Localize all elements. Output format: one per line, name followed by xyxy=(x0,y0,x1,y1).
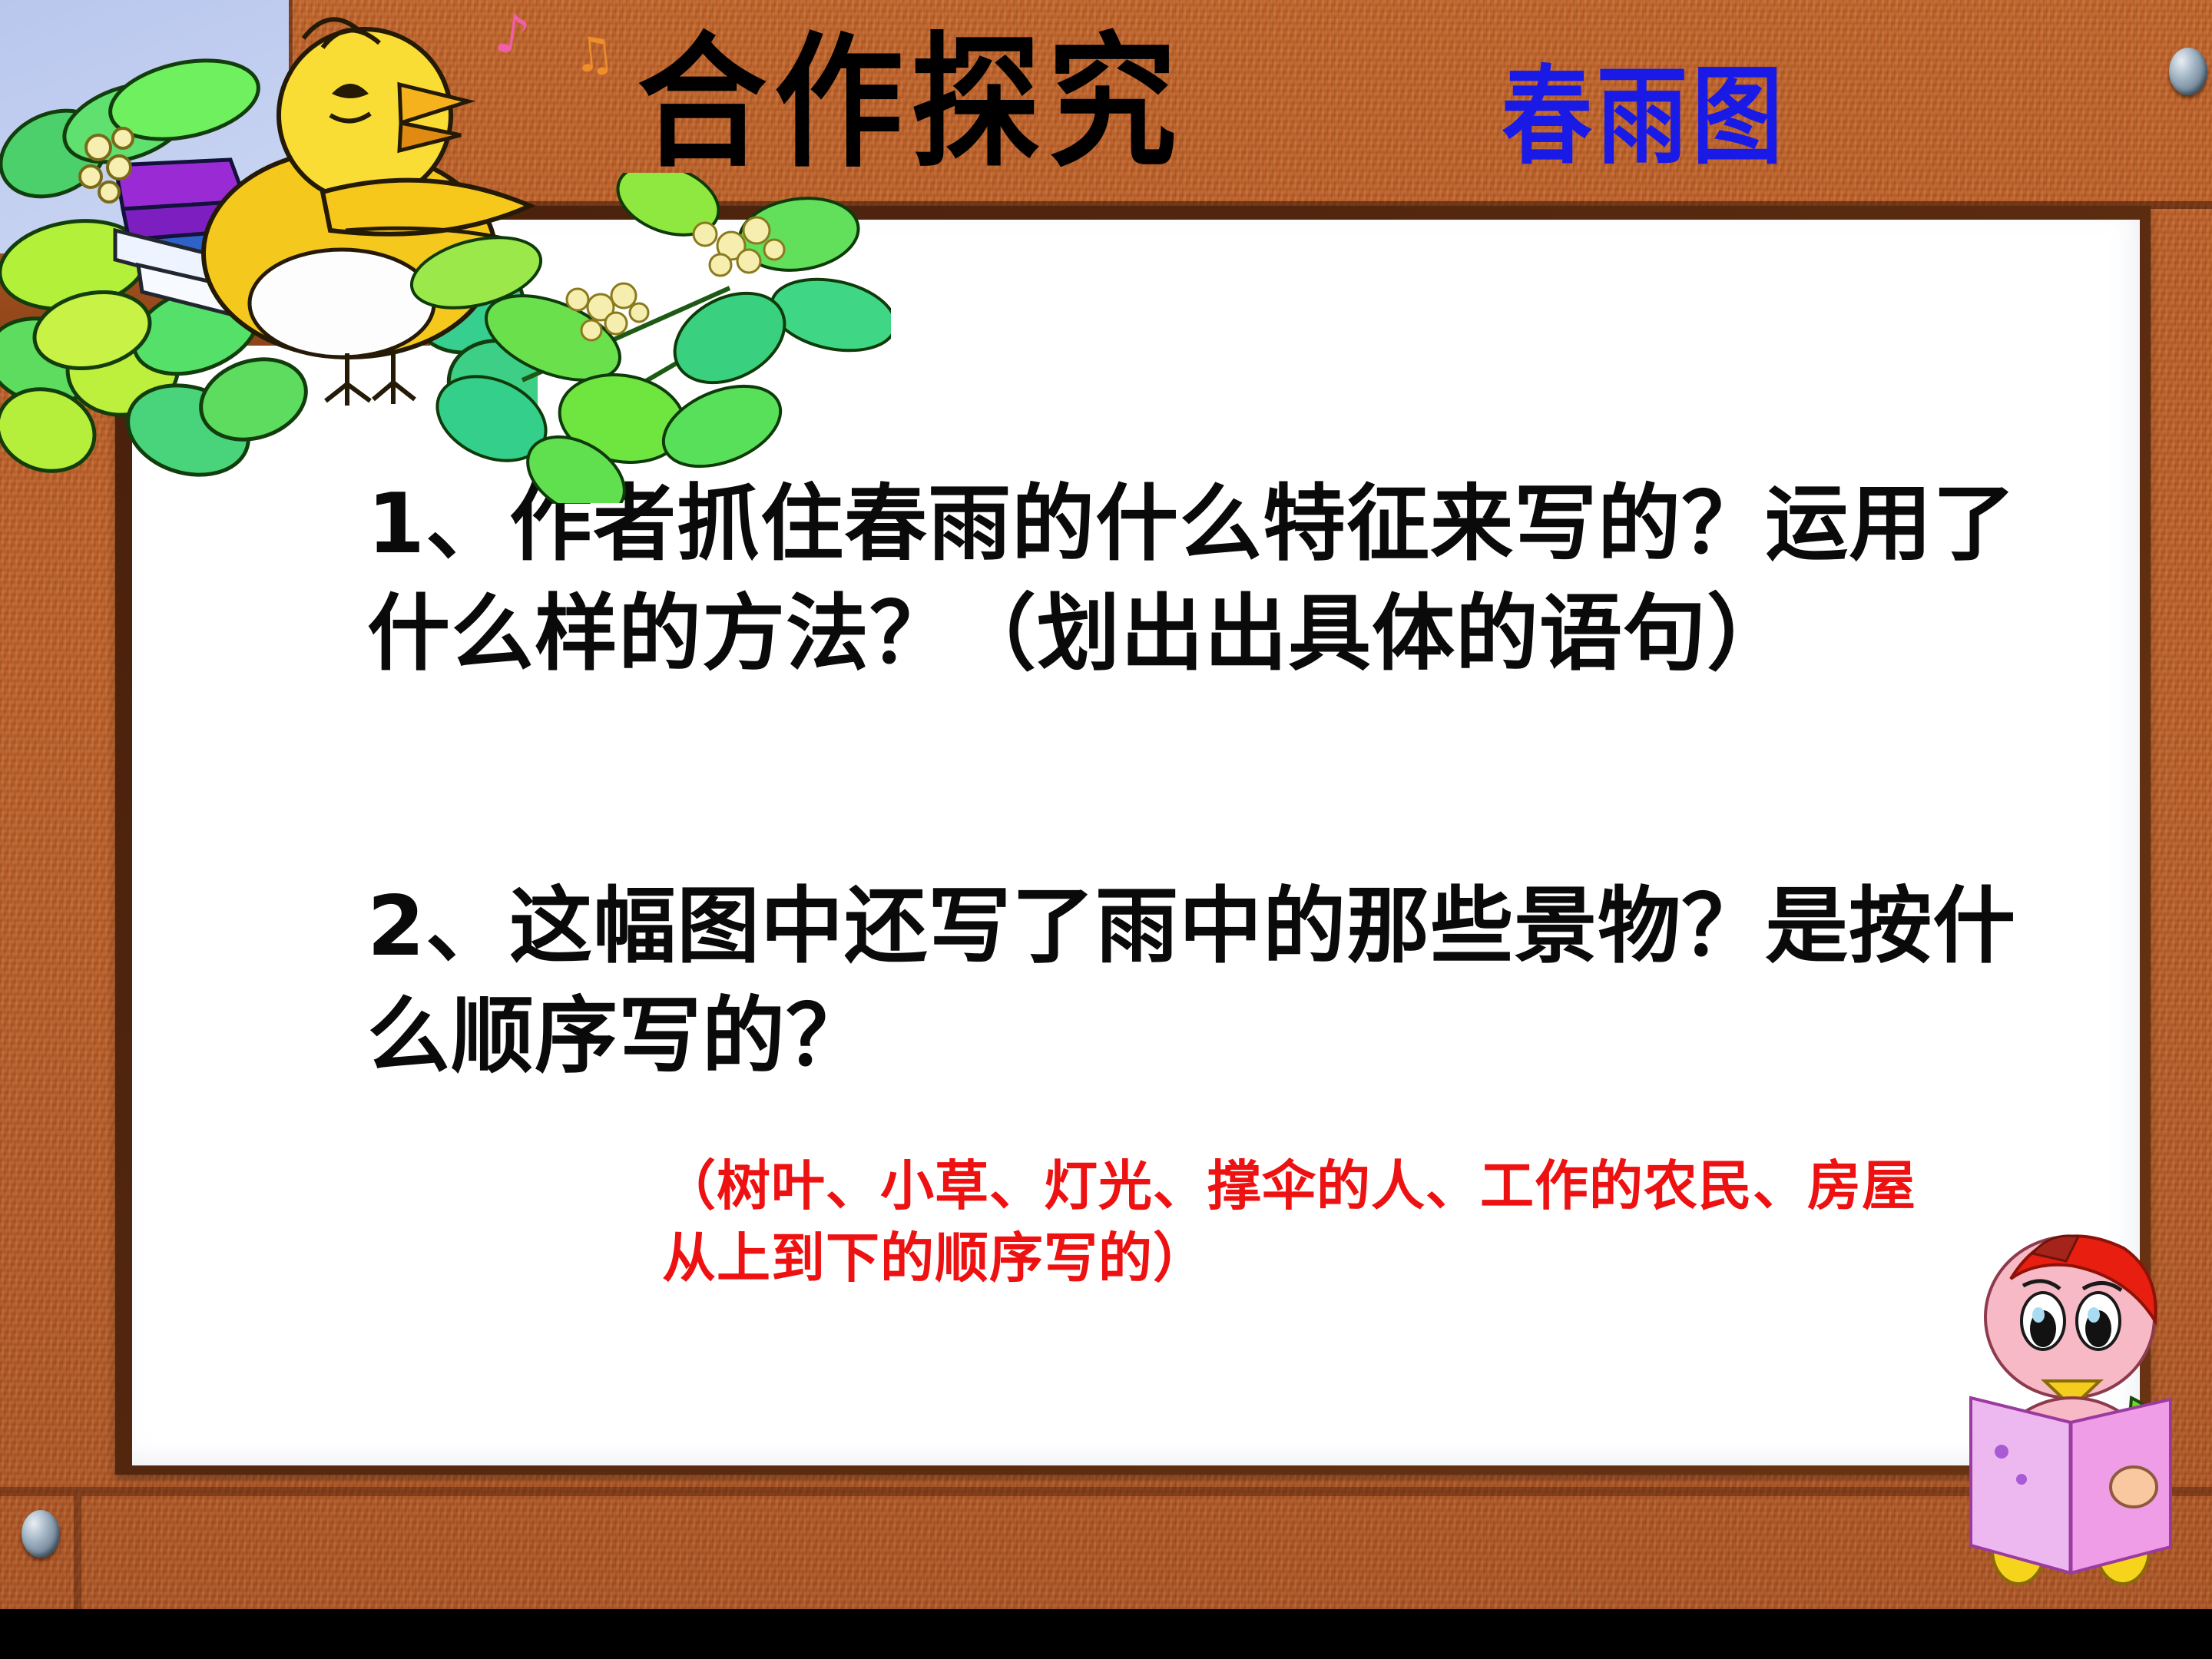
question-1-text: 1、作者抓住春雨的什么特征来写的？运用了什么样的方法？（划出出具体的语句） xyxy=(367,470,2072,689)
page-title: 合作探究 xyxy=(637,31,1184,175)
answer-note-text: （树叶、小草、灯光、撑伞的人、工作的农民、房屋 从上到下的顺序写的） xyxy=(662,1151,1968,1295)
bottom-black-band xyxy=(0,1609,2212,1659)
frame-seam-bottom xyxy=(0,1487,2212,1496)
page-subtitle: 春雨图 xyxy=(1502,63,1787,170)
frame-seam-post-left xyxy=(74,1496,81,1611)
screw-icon xyxy=(22,1510,60,1558)
sky-patch xyxy=(0,0,289,269)
question-2-text: 2、这幅图中还写了雨中的那些景物？是按什么顺序写的？ xyxy=(367,873,2072,1091)
slide-canvas: 合作探究 春雨图 1、作者抓住春雨的什么特征来写的？运用了什么样的方法？（划出出… xyxy=(0,0,2212,1659)
music-note-icon: ♫ xyxy=(570,28,618,80)
screw-icon xyxy=(2169,48,2207,95)
branch-shape xyxy=(0,253,430,346)
